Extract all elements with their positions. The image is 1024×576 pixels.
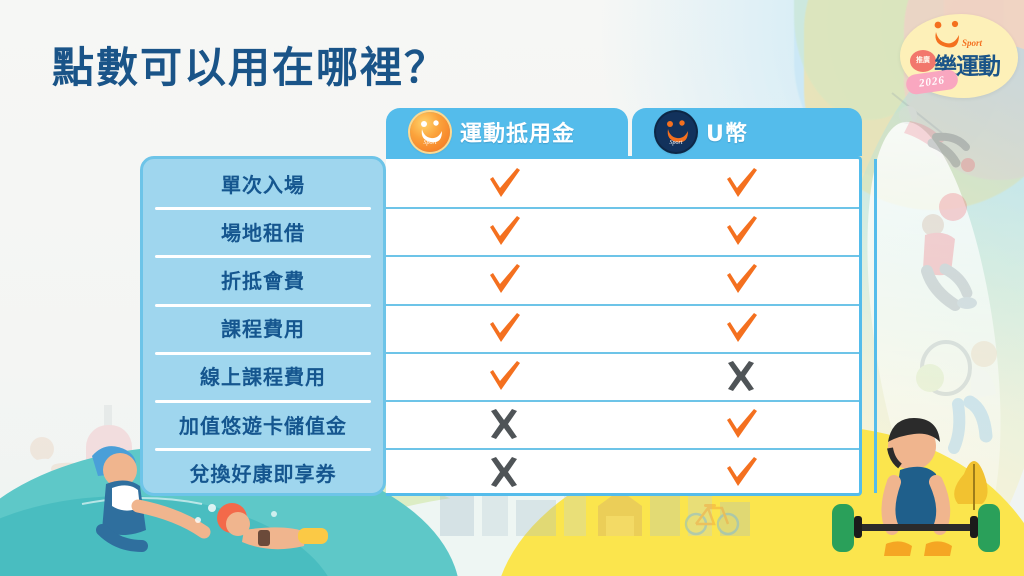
check-icon [487, 359, 521, 393]
table-cell [623, 255, 860, 303]
table-cell [386, 159, 623, 207]
sport-smile-glyph-icon: Sport [415, 117, 445, 147]
hill-white [270, 491, 830, 576]
table-cell [386, 207, 623, 255]
table-row: 線上課程費用 [143, 352, 383, 400]
check-icon [487, 262, 521, 296]
row-label: 單次入場 [221, 169, 305, 198]
row-label: 課程費用 [221, 313, 305, 342]
column-header-u-coin[interactable]: Sport U幣 [632, 108, 862, 156]
column-divider [874, 159, 877, 493]
check-icon [487, 166, 521, 200]
sport-logo-icon [930, 20, 964, 50]
check-icon [724, 455, 758, 489]
table-row [386, 352, 859, 400]
check-icon [724, 407, 758, 441]
table-cell [386, 400, 623, 448]
bicycle-icon [684, 498, 740, 536]
table-row: 課程費用 [143, 304, 383, 352]
table-row: 折抵會費 [143, 255, 383, 303]
sport-smile-glyph-icon: Sport [661, 117, 691, 147]
pastel-sweep-highlight [845, 114, 1024, 557]
column-header-label: U幣 [706, 116, 748, 148]
check-icon [487, 311, 521, 345]
table-cell [386, 304, 623, 352]
table-cell [623, 304, 860, 352]
badge-seal-text: 推廣 [910, 50, 936, 72]
table-row [386, 159, 859, 207]
check-icon [724, 166, 758, 200]
badge-year-text: 2026 [918, 74, 945, 90]
tennis-figure-icon [910, 320, 1022, 460]
table-cell [386, 448, 623, 496]
table-row: 兌換好康即享券 [143, 448, 383, 496]
check-icon [724, 262, 758, 296]
table-cell [623, 207, 860, 255]
check-icon [724, 311, 758, 345]
svg-text:Sport: Sport [669, 140, 682, 146]
table-cell [623, 448, 860, 496]
cross-icon [724, 359, 758, 393]
table-row [386, 255, 859, 303]
boxing-figure-icon [8, 405, 158, 545]
table-cell [623, 159, 860, 207]
cross-icon [487, 407, 521, 441]
climber-figure-icon [880, 85, 990, 180]
row-label: 折抵會費 [221, 265, 305, 294]
cross-icon [487, 455, 521, 489]
row-label: 加值悠遊卡儲值金 [179, 410, 347, 439]
table-tennis-figure-icon [905, 185, 1015, 315]
table-cell [386, 352, 623, 400]
badge-seal: 推廣 [910, 50, 936, 72]
table-cell [623, 400, 860, 448]
column-header-label: 運動抵用金 [460, 116, 575, 148]
table-row [386, 448, 859, 496]
event-badge: Sport 推廣 樂運動 2026 [900, 14, 1018, 98]
comparison-table: 單次入場 場地租借 折抵會費 課程費用 線上課程費用 加值悠遊卡儲值金 兌換好康… [140, 156, 862, 496]
hill-water-deep [0, 496, 340, 576]
page-title: 點數可以用在哪裡？ [52, 34, 448, 95]
row-label: 場地租借 [221, 217, 305, 246]
table-row: 單次入場 [143, 159, 383, 207]
row-label: 兌換好康即享券 [190, 458, 337, 487]
table-row: 加值悠遊卡儲值金 [143, 400, 383, 448]
svg-text:Sport: Sport [423, 140, 436, 146]
check-icon [724, 214, 758, 248]
table-cell [623, 352, 860, 400]
row-label-column: 單次入場 場地租借 折抵會費 課程費用 線上課程費用 加值悠遊卡儲值金 兌換好康… [140, 156, 386, 496]
sport-logo-orange-icon: Sport [410, 112, 450, 152]
table-row [386, 400, 859, 448]
sport-logo-navy-icon: Sport [656, 112, 696, 152]
table-row [386, 207, 859, 255]
value-columns [386, 156, 862, 496]
table-row [386, 304, 859, 352]
check-icon [487, 214, 521, 248]
row-label: 線上課程費用 [200, 361, 326, 390]
value-rows [386, 159, 859, 496]
table-cell [386, 255, 623, 303]
table-row: 場地租借 [143, 207, 383, 255]
column-header-sports-voucher[interactable]: Sport 運動抵用金 [386, 108, 628, 156]
slide-canvas: 點數可以用在哪裡？ Sport 推廣 樂運動 2026 Sport 運動抵用金 [0, 0, 1024, 576]
